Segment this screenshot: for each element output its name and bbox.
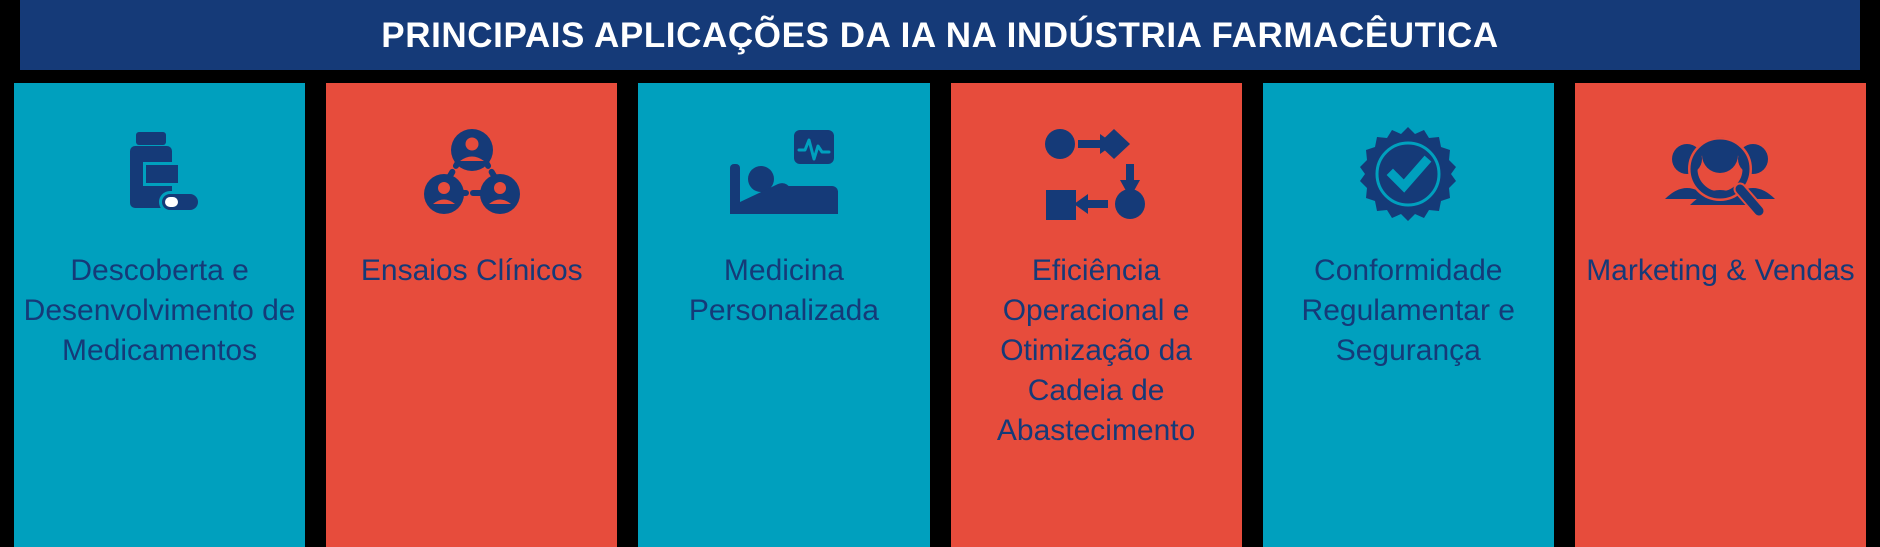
header-bar: PRINCIPAIS APLICAÇÕES DA IA NA INDÚSTRIA… [20,0,1860,70]
page-title: PRINCIPAIS APLICAÇÕES DA IA NA INDÚSTRIA… [381,18,1498,53]
people-network-icon [422,123,522,225]
card-label: Eficiência Operacional e Otimização da C… [951,251,1242,450]
card-label: Descoberta e Desenvolvimento de Medicame… [14,251,305,371]
card-label: Conformidade Regulamentar e Segurança [1263,251,1554,371]
card-label: Medicina Personalizada [638,251,929,331]
infographic-root: PRINCIPAIS APLICAÇÕES DA IA NA INDÚSTRIA… [0,0,1880,547]
card-label: Marketing & Vendas [1580,251,1861,291]
card-marketing-vendas[interactable]: Marketing & Vendas [1575,83,1866,547]
certified-badge-check-icon [1360,123,1456,225]
card-eficiencia-operacional[interactable]: Eficiência Operacional e Otimização da C… [951,83,1242,547]
cards-row: Descoberta e Desenvolvimento de Medicame… [0,83,1880,547]
flowchart-process-icon [1044,123,1148,225]
card-ensaios-clinicos[interactable]: Ensaios Clínicos [326,83,617,547]
pill-bottle-capsule-icon [110,123,210,225]
card-descoberta-desenvolvimento[interactable]: Descoberta e Desenvolvimento de Medicame… [14,83,305,547]
audience-magnifier-icon [1665,123,1775,225]
card-medicina-personalizada[interactable]: Medicina Personalizada [638,83,929,547]
card-label: Ensaios Clínicos [355,251,589,291]
hospital-bed-monitor-icon [726,123,842,225]
card-conformidade-regulamentar[interactable]: Conformidade Regulamentar e Segurança [1263,83,1554,547]
